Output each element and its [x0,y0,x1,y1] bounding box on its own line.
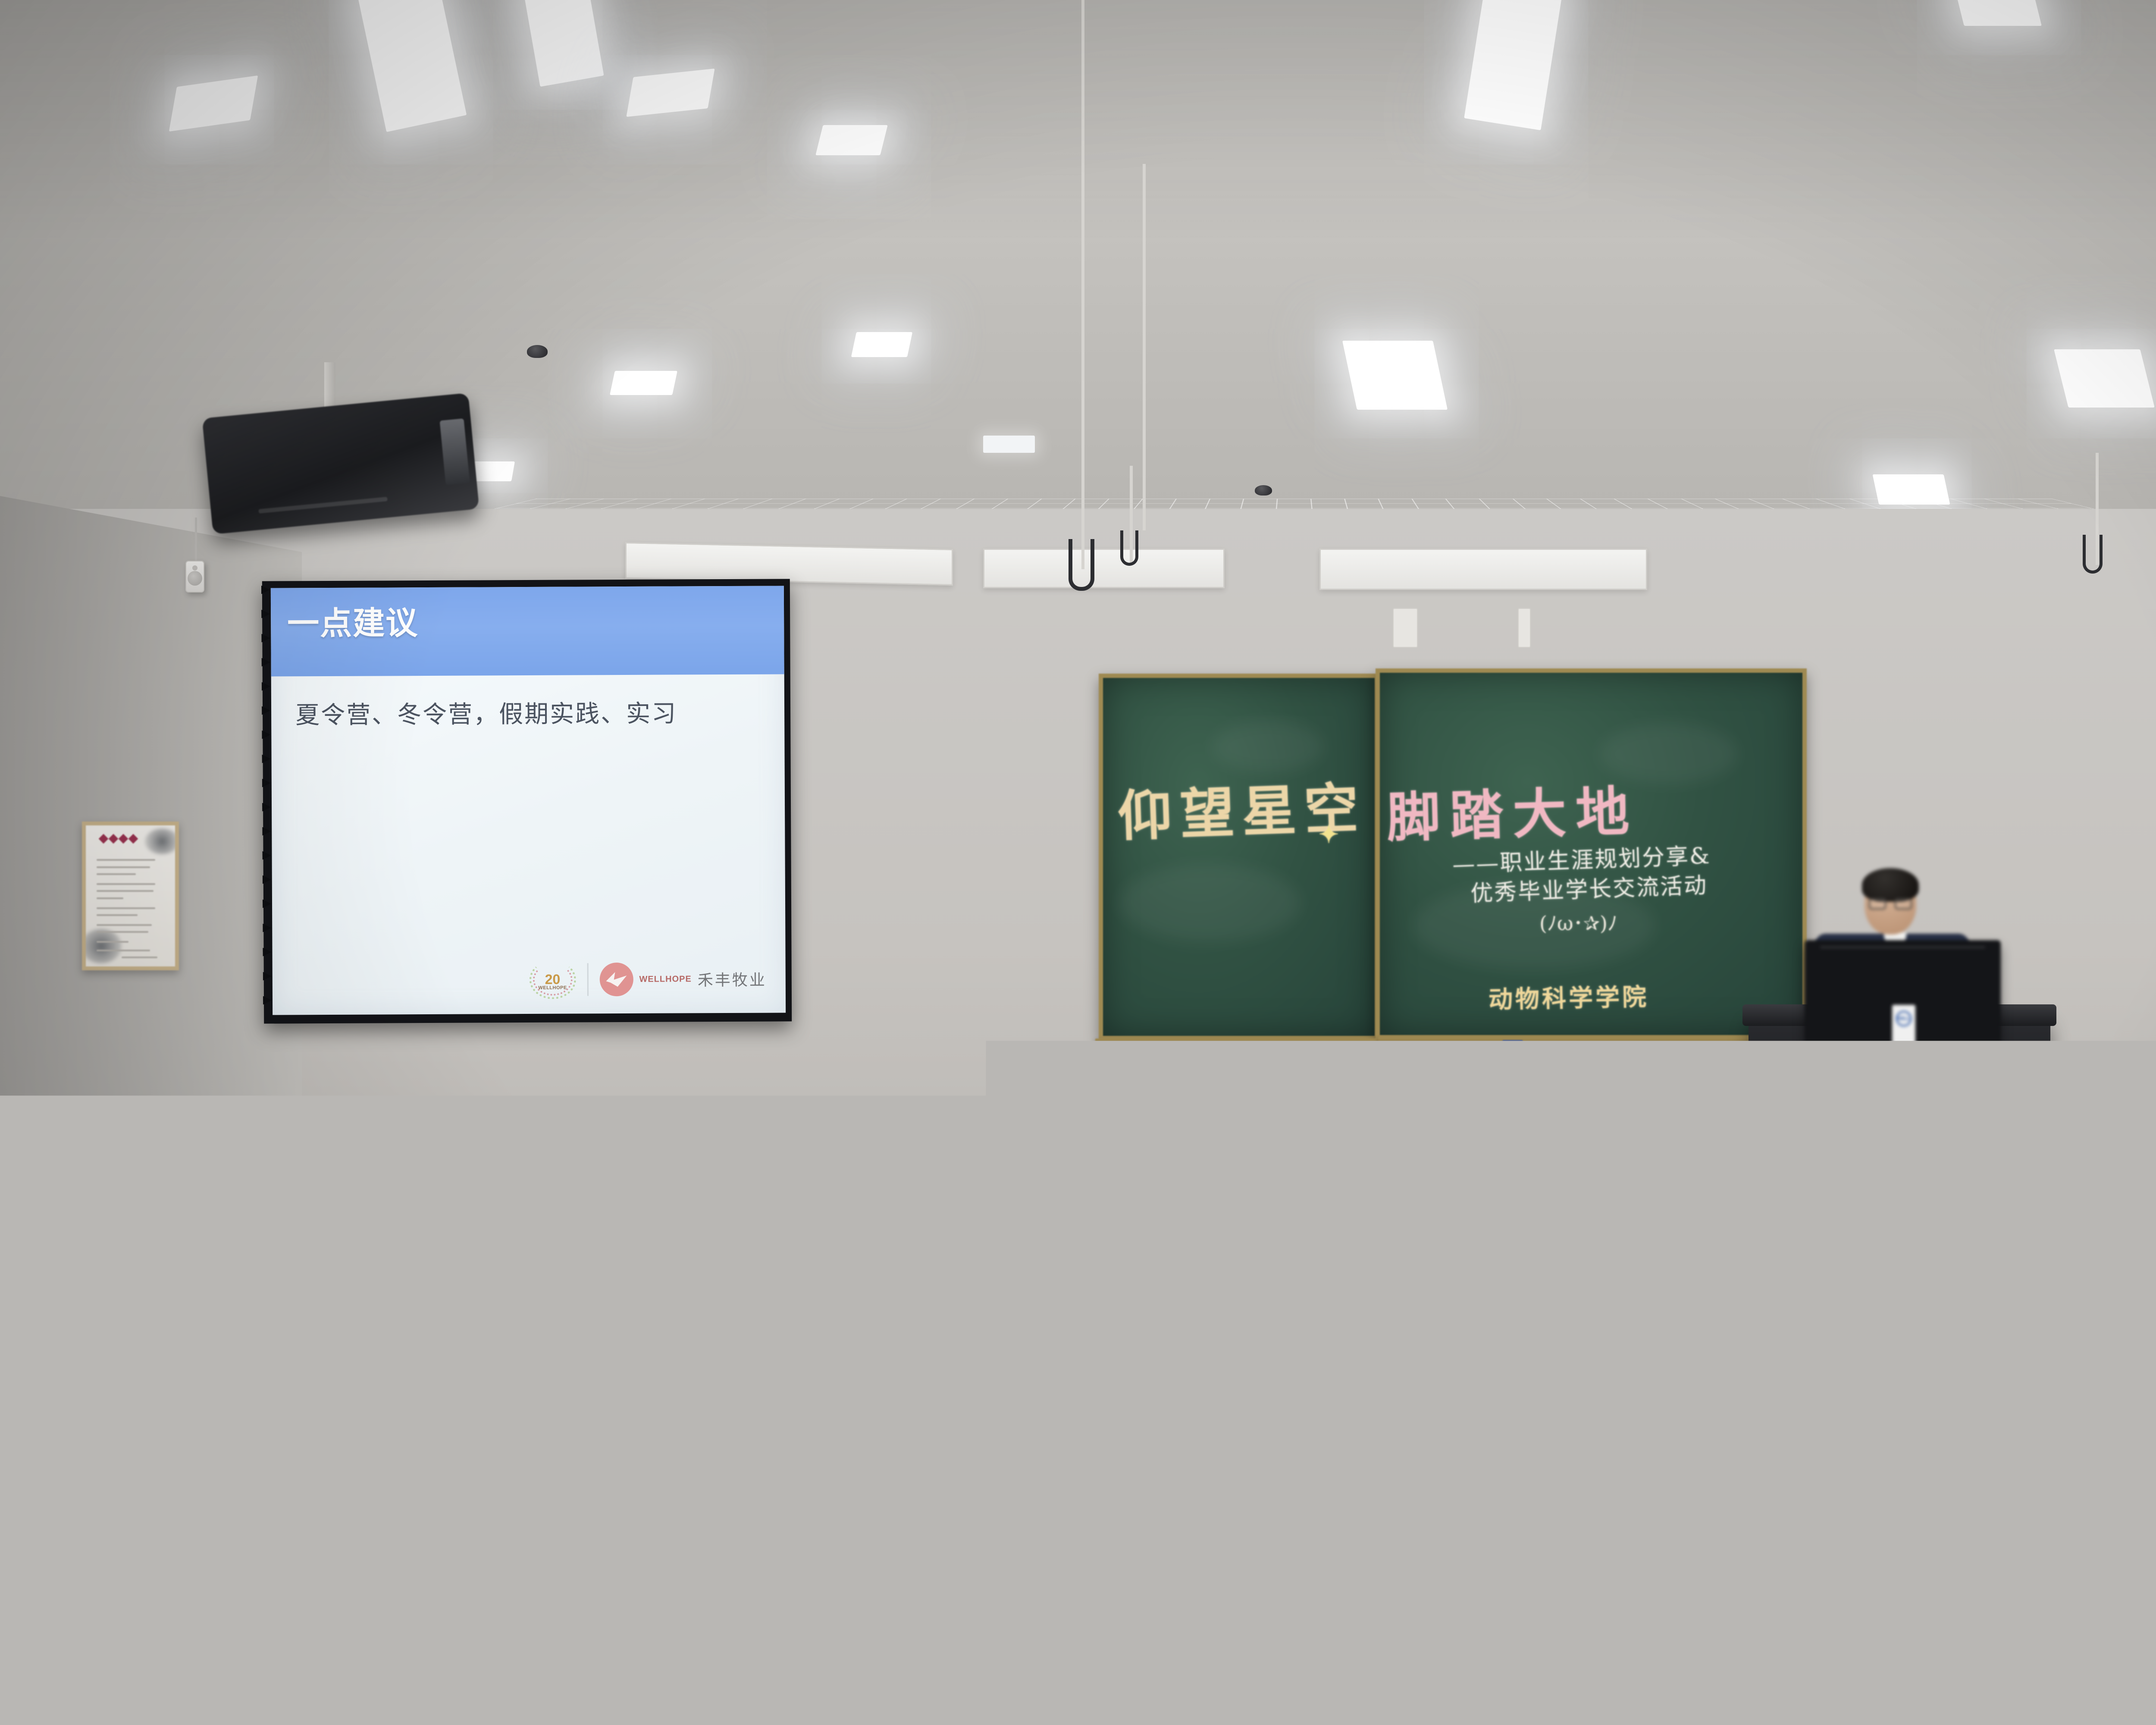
projector-lens [440,418,470,485]
desk [0,1320,2156,1340]
ceiling-light [983,436,1035,453]
chair[interactable] [2053,1220,2140,1264]
wellhope-latin-name: WELLHOPE [639,974,691,985]
wall-light-panel [983,549,1225,588]
audience-head [1155,1106,1195,1154]
screen-frame: 一点建议 夏令营、冬令营，假期实践、实习 20 WELLHOPE WELLHOP… [262,579,792,1023]
chalk-piece[interactable] [1592,1044,1603,1049]
dell-logo-icon: DELL [1896,1011,1912,1026]
ceiling-dome-sensor [1255,485,1272,496]
slide-title-bar: 一点建议 [271,586,784,676]
audience-head [1548,1106,1588,1154]
audience-head [1697,1106,1737,1154]
chair[interactable] [1076,1353,1227,1421]
projection-screen: 一点建议 夏令营、冬令营，假期实践、实习 20 WELLHOPE WELLHOP… [262,579,792,1023]
blackboard-department: 动物科学学院 [1488,978,1649,1015]
wellhope-logo: WELLHOPE 禾丰牧业 [599,962,767,997]
chair[interactable] [85,1156,166,1193]
anniversary-brand: WELLHOPE [538,985,567,991]
logo-divider [587,963,588,996]
slide-title: 一点建议 [287,607,418,640]
chair[interactable] [0,1353,99,1421]
audience-head [2073,1106,2113,1154]
chair[interactable] [111,1269,232,1322]
desk-edge [0,1205,2156,1211]
screen-pull-hook[interactable] [1069,539,1094,591]
desk [0,1251,2156,1268]
audience-head [1615,1106,1655,1154]
chair[interactable] [862,1577,1121,1684]
slide-body-text: 夏令营、冬令营，假期实践、实习 [295,694,677,731]
audience-head [1758,1106,1798,1154]
classroom-scene: 一点建议 夏令营、冬令营，假期实践、实习 20 WELLHOPE WELLHOP… [0,0,2156,1725]
blackboard-right-panel: 脚踏大地 ——职业生涯规划分享& 优秀毕业学长交流活动 (ﾉω･✰)ﾉ 动物科学… [1376,668,1807,1039]
ceiling-hanger-hook [2083,535,2103,574]
audience-head [1298,1106,1338,1154]
audience-head [2001,1106,2041,1154]
ceiling-light [851,332,912,357]
chair[interactable] [136,1353,287,1421]
chair[interactable] [97,1208,197,1253]
projector-vent [258,497,388,514]
presenter-glasses-icon [1869,898,1912,910]
chair[interactable] [1012,1269,1132,1322]
chair[interactable] [324,1353,475,1421]
chair[interactable] [175,1462,373,1551]
ceiling-drop-cable [1143,164,1146,530]
ceiling-dome-camera [527,345,548,358]
chair[interactable] [1181,1577,1440,1684]
chair[interactable] [512,1353,663,1421]
chair[interactable] [593,1156,675,1193]
chair[interactable] [1151,1462,1350,1551]
ceiling-light [610,371,677,395]
chair[interactable] [714,1208,813,1253]
blackboard-sparkle-icon: ✦ [1319,820,1339,849]
monitor-stand: DELL [1892,1005,1915,1052]
chair[interactable] [663,1462,862,1551]
audience-head [1377,1106,1417,1154]
ceiling-light [2054,349,2155,408]
chair[interactable] [467,1208,567,1253]
chair[interactable] [0,1156,65,1193]
desk [0,1682,2156,1725]
audience-head [1071,1106,1111,1154]
wellhope-chinese-name: 禾丰牧业 [698,968,767,991]
blackboard-headline-right: 脚踏大地 [1386,768,1640,852]
chair[interactable] [899,1156,981,1193]
water-bottle[interactable] [362,1130,379,1164]
blackboard-left-panel: 仰望星空 ✦ [1099,674,1379,1040]
chalk-box[interactable] [1502,1040,1523,1051]
chair[interactable] [543,1577,802,1684]
audience-head [693,1106,733,1154]
anniversary-logo: 20 WELLHOPE [529,960,576,999]
ceiling-hanger-hook [1120,530,1138,566]
slide: 一点建议 夏令营、冬令营，假期实践、实习 20 WELLHOPE WELLHOP… [271,586,786,1015]
chair[interactable] [837,1208,937,1253]
ceiling-light [1342,341,1448,410]
audience-head [1220,1106,1260,1154]
chair[interactable] [0,1462,129,1551]
ceiling-light [1873,474,1950,505]
chair[interactable] [492,1156,573,1193]
audience-head [1853,1106,1893,1154]
desk [0,1190,2156,1205]
audience-head [1464,1106,1504,1154]
emblem-year: 1946 [1891,1059,1908,1067]
chair[interactable] [888,1353,1039,1421]
chair[interactable] [419,1462,617,1551]
wall-speaker [185,561,204,593]
chair[interactable] [862,1269,982,1322]
screen-tension-tabs [261,586,272,1019]
wellhope-mark-icon [599,963,633,996]
audience-head [1923,1106,1963,1154]
ceiling-light [1951,0,2042,26]
chair[interactable] [591,1208,690,1253]
wall-switch-plate[interactable] [1393,608,1418,648]
chair[interactable] [261,1269,382,1322]
chair[interactable] [797,1156,879,1193]
chalk-tray [1378,1037,1809,1051]
presenter-head [1865,872,1916,935]
desk-edge [0,1446,2156,1458]
ceiling-light [815,125,887,155]
chair[interactable] [695,1156,777,1193]
chair[interactable] [907,1462,1106,1551]
chair[interactable] [411,1269,532,1322]
wall-switch-plate[interactable] [1518,608,1531,648]
desk [0,1419,2156,1446]
chair[interactable] [224,1577,483,1684]
chalk-piece[interactable] [1720,1044,1728,1048]
ceiling-drop-cable [1081,0,1084,569]
chair[interactable] [344,1208,443,1253]
chair[interactable] [186,1156,268,1193]
chalk-tray [1095,1038,1380,1053]
presenter-hair [1862,868,1919,902]
slide-footer-logos: 20 WELLHOPE WELLHOPE 禾丰牧业 [529,960,767,999]
blackboard-kaomoji: (ﾉω･✰)ﾉ [1539,908,1617,936]
chair[interactable] [221,1208,320,1253]
wall-light-panel [1319,549,1647,590]
chair[interactable] [700,1353,851,1421]
audience-head [921,1106,961,1154]
chair[interactable] [390,1156,472,1193]
audience-head [837,1106,877,1154]
wall-notice-poster [82,822,179,970]
audience-head [1003,1106,1044,1154]
chair[interactable] [961,1208,1060,1253]
audience-head [764,1106,804,1154]
desk-edge [0,1340,2156,1350]
chair[interactable] [711,1269,832,1322]
chair[interactable] [561,1269,682,1322]
chair[interactable] [288,1156,370,1193]
